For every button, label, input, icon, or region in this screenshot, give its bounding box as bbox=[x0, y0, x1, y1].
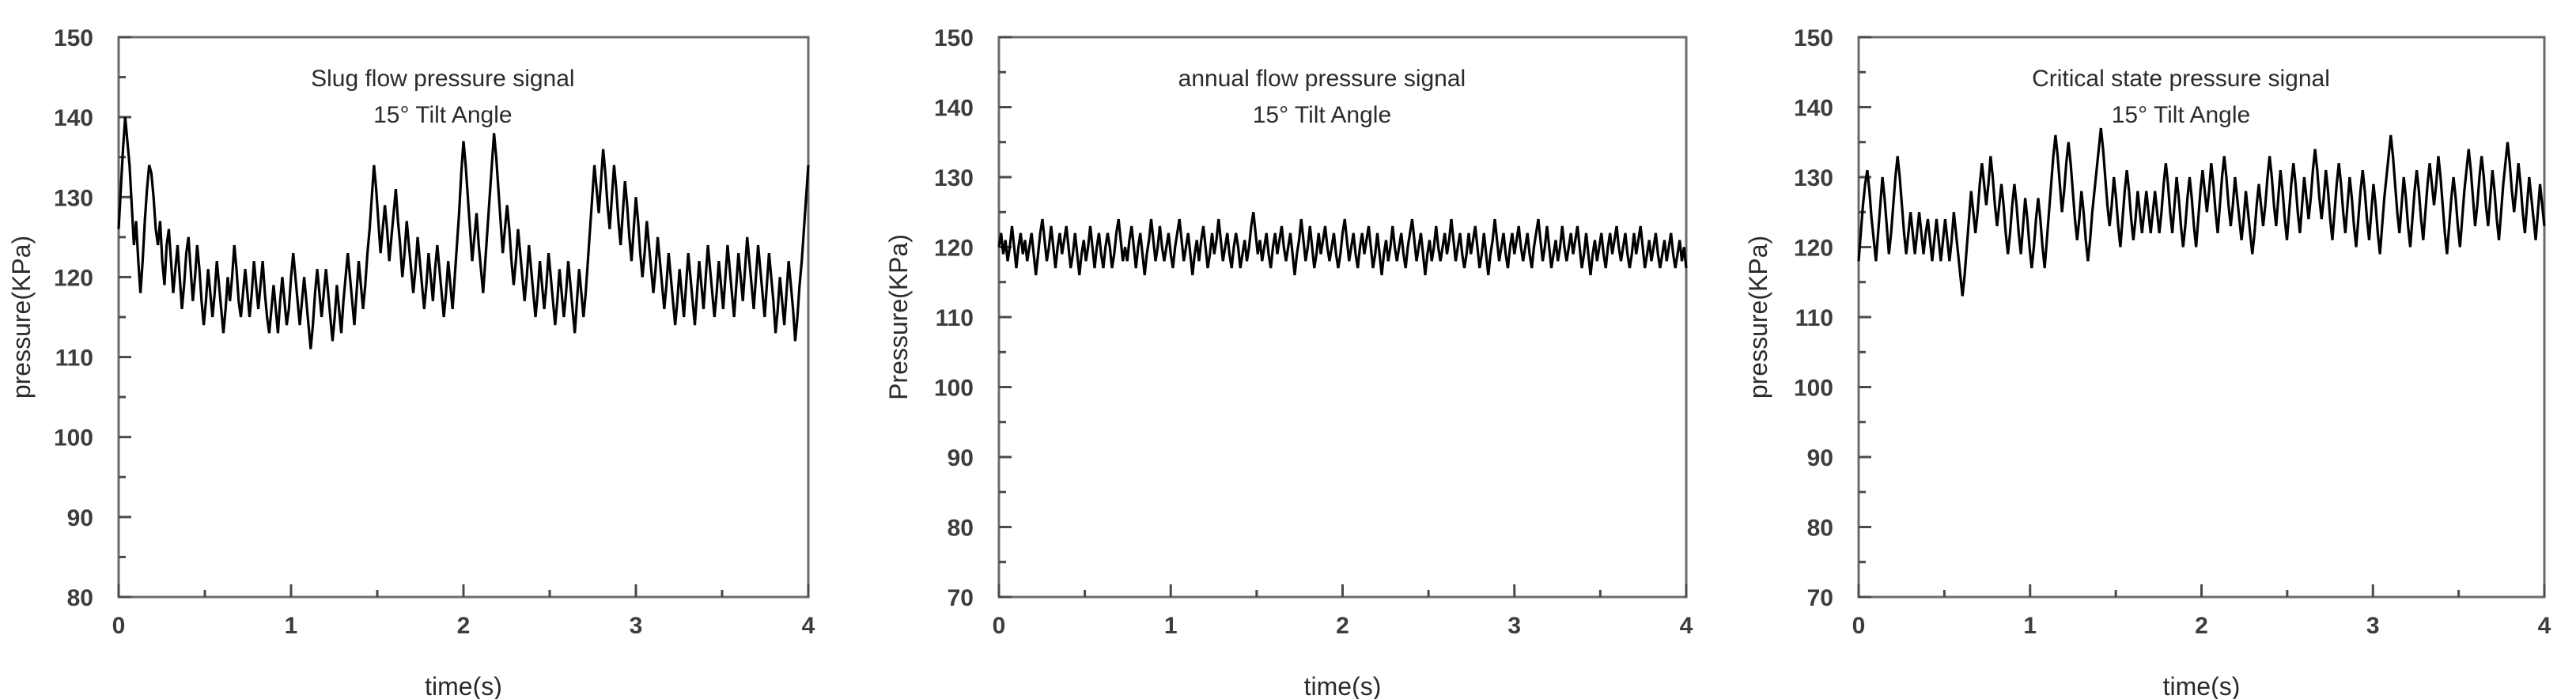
y-tick-label: 80 bbox=[67, 585, 93, 611]
y-tick-label: 110 bbox=[936, 305, 974, 331]
chart-canvas: 70809010011012013014015001234time(s)pres… bbox=[1716, 0, 2576, 699]
x-tick-label: 3 bbox=[2366, 613, 2380, 639]
y-tick-label: 110 bbox=[1795, 305, 1833, 331]
y-tick-label: 100 bbox=[1794, 376, 1833, 402]
y-tick-label: 120 bbox=[1794, 236, 1833, 262]
y-tick-label: 110 bbox=[55, 346, 93, 372]
y-tick-label: 100 bbox=[934, 376, 974, 402]
panel-slug-flow: 809010011012013014015001234time(s)pressu… bbox=[0, 0, 858, 699]
x-tick-label: 1 bbox=[1164, 613, 1178, 639]
panel-annular-flow: 70809010011012013014015001234time(s)Pres… bbox=[858, 0, 1716, 699]
y-tick-label: 70 bbox=[948, 585, 974, 611]
plot-subtitle: 15° Tilt Angle bbox=[1253, 102, 1391, 128]
y-axis-title: pressure(KPa) bbox=[1744, 236, 1772, 399]
y-tick-label: 90 bbox=[948, 445, 974, 471]
y-tick-label: 90 bbox=[67, 505, 93, 531]
y-axis-title: pressure(KPa) bbox=[7, 236, 36, 399]
x-tick-label: 3 bbox=[630, 613, 643, 639]
y-tick-label: 140 bbox=[1794, 96, 1833, 122]
y-tick-label: 140 bbox=[54, 105, 93, 131]
x-tick-label: 4 bbox=[802, 613, 815, 639]
x-tick-label: 4 bbox=[1680, 613, 1693, 639]
x-axis-title: time(s) bbox=[425, 672, 502, 699]
chart-canvas: 809010011012013014015001234time(s)pressu… bbox=[0, 0, 858, 699]
x-tick-label: 4 bbox=[2538, 613, 2551, 639]
y-tick-label: 80 bbox=[1807, 516, 1833, 542]
pressure-signal-line bbox=[119, 117, 808, 349]
y-tick-label: 140 bbox=[934, 96, 974, 122]
x-tick-label: 2 bbox=[2195, 613, 2208, 639]
x-tick-label: 1 bbox=[285, 613, 298, 639]
x-axis-title: time(s) bbox=[1304, 672, 1382, 699]
pressure-signal-line bbox=[999, 212, 1686, 275]
x-tick-label: 2 bbox=[1336, 613, 1349, 639]
y-tick-label: 120 bbox=[54, 265, 93, 291]
plot-subtitle: 15° Tilt Angle bbox=[2112, 102, 2250, 128]
three-panel-pressure-signal-figure: 809010011012013014015001234time(s)pressu… bbox=[0, 0, 2576, 699]
y-tick-label: 80 bbox=[948, 516, 974, 542]
panel-critical-state: 70809010011012013014015001234time(s)pres… bbox=[1716, 0, 2576, 699]
y-axis-title: Pressure(KPa) bbox=[884, 234, 913, 400]
x-tick-label: 3 bbox=[1507, 613, 1521, 639]
y-tick-label: 70 bbox=[1807, 585, 1833, 611]
x-tick-label: 1 bbox=[2023, 613, 2037, 639]
chart-canvas: 70809010011012013014015001234time(s)Pres… bbox=[858, 0, 1716, 699]
pressure-signal-line bbox=[1859, 128, 2544, 296]
y-tick-label: 150 bbox=[934, 25, 974, 51]
plot-title: annual flow pressure signal bbox=[1178, 66, 1466, 92]
y-tick-label: 100 bbox=[54, 425, 93, 452]
y-tick-label: 130 bbox=[1794, 165, 1833, 191]
x-tick-label: 2 bbox=[457, 613, 471, 639]
y-tick-label: 120 bbox=[934, 236, 974, 262]
y-tick-label: 130 bbox=[934, 165, 974, 191]
plot-title: Critical state pressure signal bbox=[2032, 66, 2330, 92]
x-axis-title: time(s) bbox=[2163, 672, 2241, 699]
y-tick-label: 130 bbox=[54, 185, 93, 211]
y-tick-label: 150 bbox=[1794, 25, 1833, 51]
plot-subtitle: 15° Tilt Angle bbox=[373, 102, 512, 128]
x-tick-label: 0 bbox=[1852, 613, 1866, 639]
x-tick-label: 0 bbox=[112, 613, 126, 639]
y-tick-label: 90 bbox=[1807, 445, 1833, 471]
y-tick-label: 150 bbox=[54, 25, 93, 51]
plot-title: Slug flow pressure signal bbox=[311, 66, 575, 92]
x-tick-label: 0 bbox=[993, 613, 1006, 639]
